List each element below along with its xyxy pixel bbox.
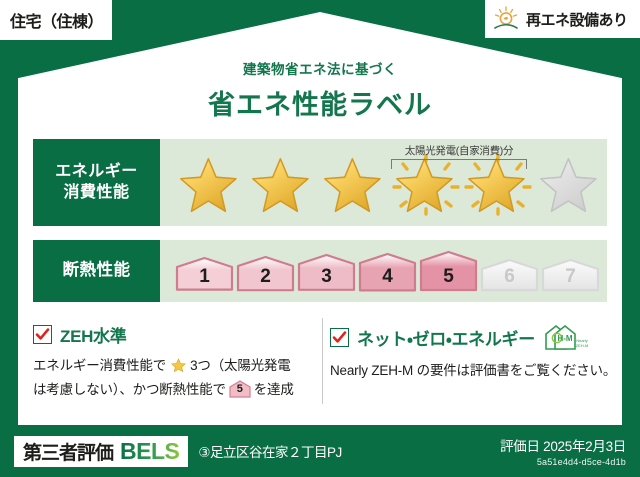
check-icon xyxy=(330,328,349,347)
zeh-m-logo-icon: H-M Nearly ZEH-M xyxy=(543,322,589,352)
bels-mark: BELS xyxy=(120,438,179,465)
net-zero-energy-title: ネット・ゼロ・エネルギー xyxy=(357,325,535,350)
energy-label-line2: 消費性能 xyxy=(63,183,129,203)
insulation-performance-label-box: 断熱性能 xyxy=(33,240,160,302)
net-zero-energy-header: ネット・ゼロ・エネルギー H-M Nearly ZEH-M xyxy=(330,322,622,352)
check-icon xyxy=(33,325,52,344)
footer-bar: 第三者評価 BELS ③足立区谷在家２丁目PJ 評価日 2025年2月3日 5a… xyxy=(0,425,640,477)
energy-performance-row: エネルギー 消費性能 太陽光発電(自家消費)分 xyxy=(33,139,607,226)
evaluation-id: 5a51e4d4-d5ce-4d1b xyxy=(500,457,626,467)
net-zero-energy-description: Nearly ZEH-M の要件は評価書をご覧ください。 xyxy=(330,361,622,382)
svg-text:H-M: H-M xyxy=(557,334,572,343)
insulation-badge-7-inactive: 7 xyxy=(541,258,600,292)
energy-performance-label-box: エネルギー 消費性能 xyxy=(33,139,160,226)
insulation-badge-value: 3 xyxy=(297,266,356,288)
insulation-badge-4-active: 4 xyxy=(358,252,417,292)
star-2-filled xyxy=(247,154,317,218)
insulation-badge-3-active: 3 xyxy=(297,253,356,292)
insulation-badge-value: 6 xyxy=(480,266,539,288)
energy-rating-body: 太陽光発電(自家消費)分 xyxy=(160,139,607,226)
insulation-badge-6-inactive: 6 xyxy=(480,258,539,292)
title-main: 省エネ性能ラベル xyxy=(0,83,640,122)
star-4-filled xyxy=(391,154,461,218)
insulation-badge-value: 2 xyxy=(236,266,295,288)
zeh-standard-description: エネルギー消費性能で 3つ（太陽光発電 は考慮しない）、かつ断熱性能で 5 を達… xyxy=(33,356,323,401)
insulation-rating-body: 1234567 xyxy=(160,240,607,302)
zeh-standard-block: ZEH水準 エネルギー消費性能で 3つ（太陽光発電 は考慮しない）、かつ断熱性能… xyxy=(33,322,323,401)
insulation-badge-1-active: 1 xyxy=(175,256,234,292)
star-3-filled xyxy=(319,154,389,218)
third-party-label: 第三者評価 xyxy=(23,438,113,465)
inline-badge-value: 5 xyxy=(229,381,251,398)
svg-text:ZEH-M: ZEH-M xyxy=(576,343,589,348)
star-5-filled xyxy=(463,154,533,218)
sun-icon xyxy=(491,4,521,34)
page-title: 建築物省エネ法に基づく 省エネ性能ラベル xyxy=(0,58,640,122)
star-1-filled xyxy=(175,154,245,218)
bels-badge: 第三者評価 BELS xyxy=(14,436,188,467)
zeh-desc-part2: 3つ（太陽光発電 xyxy=(190,358,290,373)
zeh-desc-part3: は考慮しない）、かつ断熱性能で xyxy=(33,382,226,397)
zeh-desc-part4: を達成 xyxy=(254,382,294,397)
insulation-badge-value: 4 xyxy=(358,266,417,288)
evaluation-date: 評価日 2025年2月3日 xyxy=(500,435,626,455)
insulation-badge-value: 5 xyxy=(419,266,478,288)
renewable-equipment-tag: 再エネ設備あり xyxy=(485,0,640,38)
insulation-performance-row: 断熱性能 1234567 xyxy=(33,240,607,302)
energy-label-line1: エネルギー xyxy=(55,162,138,182)
insulation-badge-5-active: 5 xyxy=(419,250,478,292)
insulation-level-badges: 1234567 xyxy=(175,250,600,292)
insulation-badge-2-active: 2 xyxy=(236,255,295,292)
renewable-tag-label: 再エネ設備あり xyxy=(526,9,628,30)
evaluation-info: 評価日 2025年2月3日 5a51e4d4-d5ce-4d1b xyxy=(500,435,626,467)
net-zero-energy-block: ネット・ゼロ・エネルギー H-M Nearly ZEH-M Nearly ZEH… xyxy=(330,322,622,382)
building-type-tag-label: 住宅（住棟） xyxy=(10,8,103,32)
insulation-badge-value: 1 xyxy=(175,266,234,288)
property-name: ③足立区谷在家２丁目PJ xyxy=(198,441,341,461)
energy-performance-label: 住宅（住棟） 再エネ設備あり 建築物省エネ法に基づく 省エネ性能ラベル xyxy=(0,0,640,477)
zeh-desc-part1: エネルギー消費性能で xyxy=(33,358,166,373)
zeh-standard-title: ZEH水準 xyxy=(60,322,127,347)
inline-insulation-badge: 5 xyxy=(229,380,251,398)
zeh-standard-header: ZEH水準 xyxy=(33,322,323,347)
building-type-tag: 住宅（住棟） xyxy=(0,0,112,40)
star-rating xyxy=(175,154,605,218)
star-6-empty xyxy=(535,154,605,218)
insulation-label: 断熱性能 xyxy=(63,260,131,281)
insulation-badge-value: 7 xyxy=(541,266,600,288)
title-subtitle: 建築物省エネ法に基づく xyxy=(0,58,640,78)
inline-star-icon xyxy=(167,361,189,376)
